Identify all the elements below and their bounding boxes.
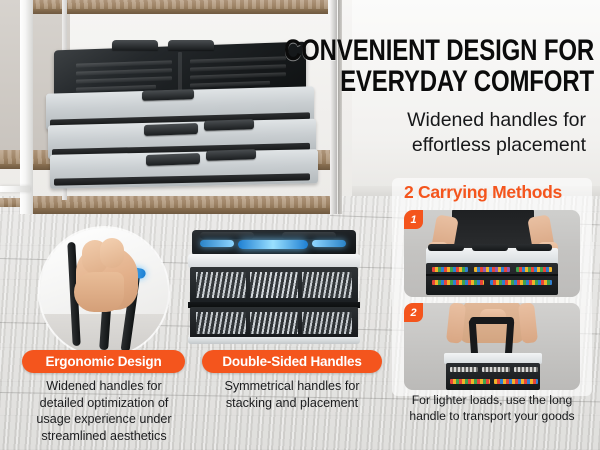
- shelf-post-right: [330, 0, 337, 214]
- caption-line: Widened handles for: [8, 378, 200, 395]
- caption-line: stacking and placement: [196, 395, 388, 412]
- headline-line-2: EVERYDAY COMFORT: [274, 67, 594, 98]
- caption-line: detailed optimization of: [8, 395, 200, 412]
- badge-1: 1: [404, 210, 423, 229]
- crate-side-handle-3: [146, 153, 200, 166]
- feature-pill-ergonomic-design: Ergonomic Design: [22, 350, 185, 373]
- shelf-board-top-edge: [28, 9, 328, 14]
- shelf-post-right-shadow: [338, 0, 342, 214]
- subheadline-line-1: Widened handles for: [286, 108, 586, 133]
- badge-2: 2: [404, 303, 423, 322]
- carrying-methods-title: 2 Carrying Methods: [404, 182, 562, 203]
- feature-caption-double-sided-handles: Symmetrical handles for stacking and pla…: [196, 378, 388, 411]
- caption-line: Symmetrical handles for: [196, 378, 388, 395]
- carrying-methods-caption: For lighter loads, use the long handle t…: [392, 392, 592, 425]
- background-wall-panel: [352, 0, 600, 200]
- hand-gripping-handle-photo: [40, 228, 168, 356]
- crate-side-handle-3b: [206, 149, 256, 161]
- feature-caption-ergonomic-design: Widened handles for detailed optimizatio…: [8, 378, 200, 444]
- headline-line-1: CONVENIENT DESIGN FOR: [274, 36, 594, 67]
- carrying-methods-caption-line-2: handle to transport your goods: [392, 408, 592, 424]
- crate-side-handle-2b: [204, 119, 254, 131]
- product-marketing-banner: CONVENIENT DESIGN FOR EVERYDAY COMFORT W…: [0, 0, 600, 450]
- shelf-board-bottom-edge: [26, 208, 336, 214]
- carrying-methods-caption-line-1: For lighter loads, use the long: [392, 392, 592, 408]
- crate-side-handle-2: [144, 123, 198, 136]
- carry-by-long-handle-photo: [404, 303, 580, 390]
- carry-by-side-handles-photo: [404, 210, 580, 297]
- crate-handle-top-left: [112, 40, 158, 50]
- shelf-post-left: [20, 0, 33, 214]
- shelf-rail: [0, 186, 30, 192]
- open-storage-crate-photo: [186, 228, 362, 346]
- crate-handle-top-right: [168, 40, 214, 50]
- caption-line: streamlined aesthetics: [8, 428, 200, 445]
- feature-pill-double-sided-handles: Double-Sided Handles: [202, 350, 382, 373]
- page-title: CONVENIENT DESIGN FOR EVERYDAY COMFORT: [274, 36, 594, 98]
- caption-line: usage experience under: [8, 411, 200, 428]
- subheadline-line-2: effortless placement: [286, 133, 586, 158]
- subheadline: Widened handles for effortless placement: [286, 108, 586, 158]
- crate-side-handle-1: [142, 89, 194, 101]
